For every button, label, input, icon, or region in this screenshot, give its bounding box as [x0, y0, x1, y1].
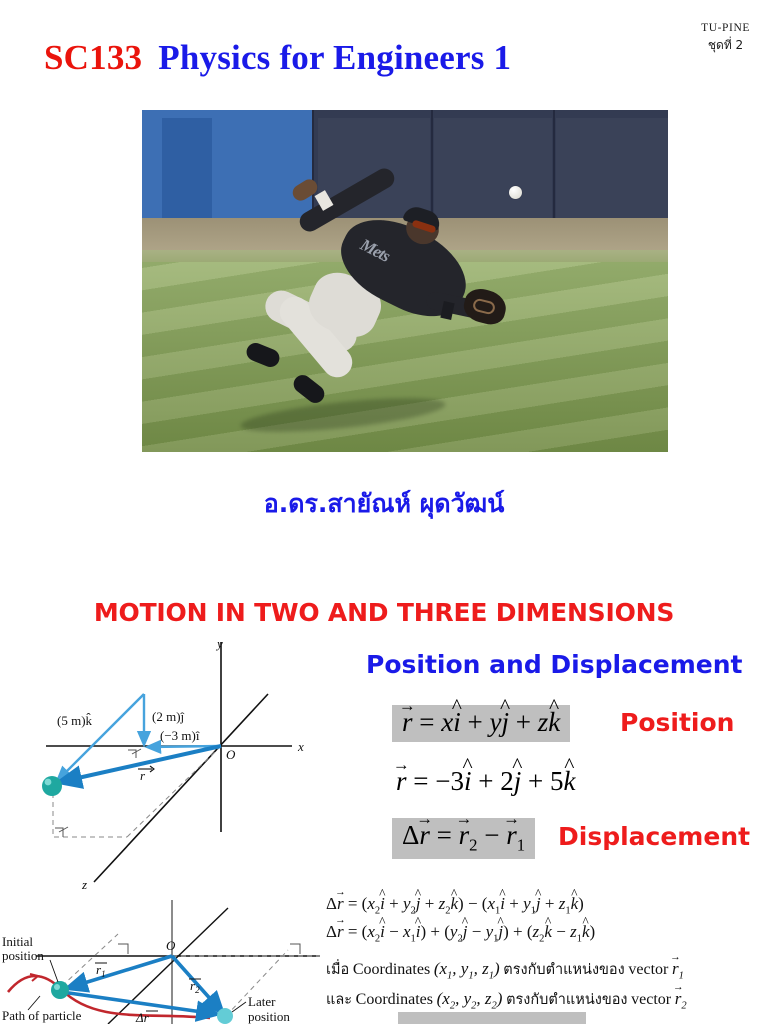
label-delta-r: Δr — [135, 1010, 150, 1024]
equation-expand-2: Δr = (x2i − x1i) + (y2j − y1j) + (z2k − … — [326, 922, 595, 944]
note1-term2: vector — [628, 961, 668, 978]
label-component-i: (−3 m)î — [160, 728, 200, 743]
slide-page: SC133Physics for Engineers 1 TU-PINE ชุด… — [0, 0, 768, 1024]
label-r1: r1 — [96, 962, 106, 979]
course-code: SC133 — [44, 38, 142, 77]
corner-set-label: ชุดที่ 2 — [701, 36, 750, 55]
axis-y-label: y — [215, 636, 223, 651]
origin-label-2: O — [166, 938, 176, 953]
corner-org-label: TU-PINE — [701, 22, 750, 34]
corner-mark: TU-PINE ชุดที่ 2 — [701, 22, 750, 55]
diagram-displacement: O Initial position Path of particle Late… — [0, 900, 330, 1024]
note-line-2: และ Coordinates (x2, y2, z2) ตรงกับตำแหน… — [326, 988, 687, 1011]
label-component-j: (2 m)ĵ — [152, 709, 185, 724]
equation-next-clipped — [398, 1012, 586, 1024]
projection-dashed-2 — [127, 746, 221, 837]
wall-pad-3 — [556, 118, 668, 222]
axis-x-label: x — [297, 739, 304, 754]
note2-term2: vector — [631, 991, 671, 1008]
course-title: Physics for Engineers 1 — [158, 38, 511, 77]
baseball-photo: Mets — [142, 110, 668, 452]
particle-dot — [42, 776, 62, 796]
right-angle-tick-4 — [290, 944, 300, 954]
wall-seam-3 — [553, 110, 555, 222]
equation-displacement-label: Displacement — [558, 822, 750, 851]
vector-r1 — [68, 956, 172, 988]
axis-z-label: z — [81, 877, 87, 892]
note2-mid: ตรงกับตำแหน่งของ — [506, 992, 627, 1008]
note1-mid: ตรงกับตำแหน่งของ — [503, 962, 624, 978]
leader-initial — [50, 960, 58, 982]
label-later-1: Later — [248, 994, 276, 1009]
diagram-position-vector: x y z O (5 m)k̂ (2 m)ĵ (−3 m)î r — [2, 632, 332, 904]
note2-term: Coordinates — [356, 991, 433, 1008]
particle-highlight — [45, 779, 52, 786]
author-name: อ.ดร.สายัณห์ ผุดวัฒน์ — [0, 484, 768, 524]
label-component-k: (5 m)k̂ — [57, 713, 93, 728]
baseball-ball — [509, 186, 522, 199]
right-angle-tick-2 — [55, 828, 63, 837]
wall-pad-2 — [434, 118, 552, 222]
right-angle-tick-3 — [118, 944, 128, 954]
wall-panel-light — [162, 118, 212, 222]
section-heading: MOTION IN TWO AND THREE DIMENSIONS — [0, 598, 768, 627]
wall-seam-2 — [431, 110, 433, 222]
label-later-2: position — [248, 1009, 290, 1024]
equation-position-value: r = −3i + 2j + 5k — [396, 766, 575, 797]
label-path: Path of particle — [2, 1008, 82, 1023]
equation-position: r = xi + yj + zk — [392, 705, 570, 742]
vector-r2 — [172, 956, 222, 1012]
page-title: SC133Physics for Engineers 1 — [44, 38, 511, 78]
origin-label: O — [226, 747, 236, 762]
particle-initial — [51, 981, 69, 999]
label-vector-r: r — [140, 768, 146, 783]
wall-seam-1 — [312, 110, 314, 222]
equation-displacement: Δr = r2 − r1 — [392, 818, 535, 859]
note1-term: Coordinates — [353, 961, 430, 978]
particle-initial-highlight — [54, 984, 60, 990]
label-r2: r2 — [190, 978, 200, 995]
particle-later — [217, 1008, 233, 1024]
equation-position-label: Position — [620, 708, 734, 737]
label-initial-2: position — [2, 948, 44, 963]
label-initial-1: Initial — [2, 934, 33, 949]
subsection-heading: Position and Displacement — [366, 650, 742, 679]
dashed-initial — [62, 934, 118, 986]
note-line-1: เมื่อ Coordinates (x1, y1, z1) ตรงกับตำแ… — [326, 958, 684, 981]
